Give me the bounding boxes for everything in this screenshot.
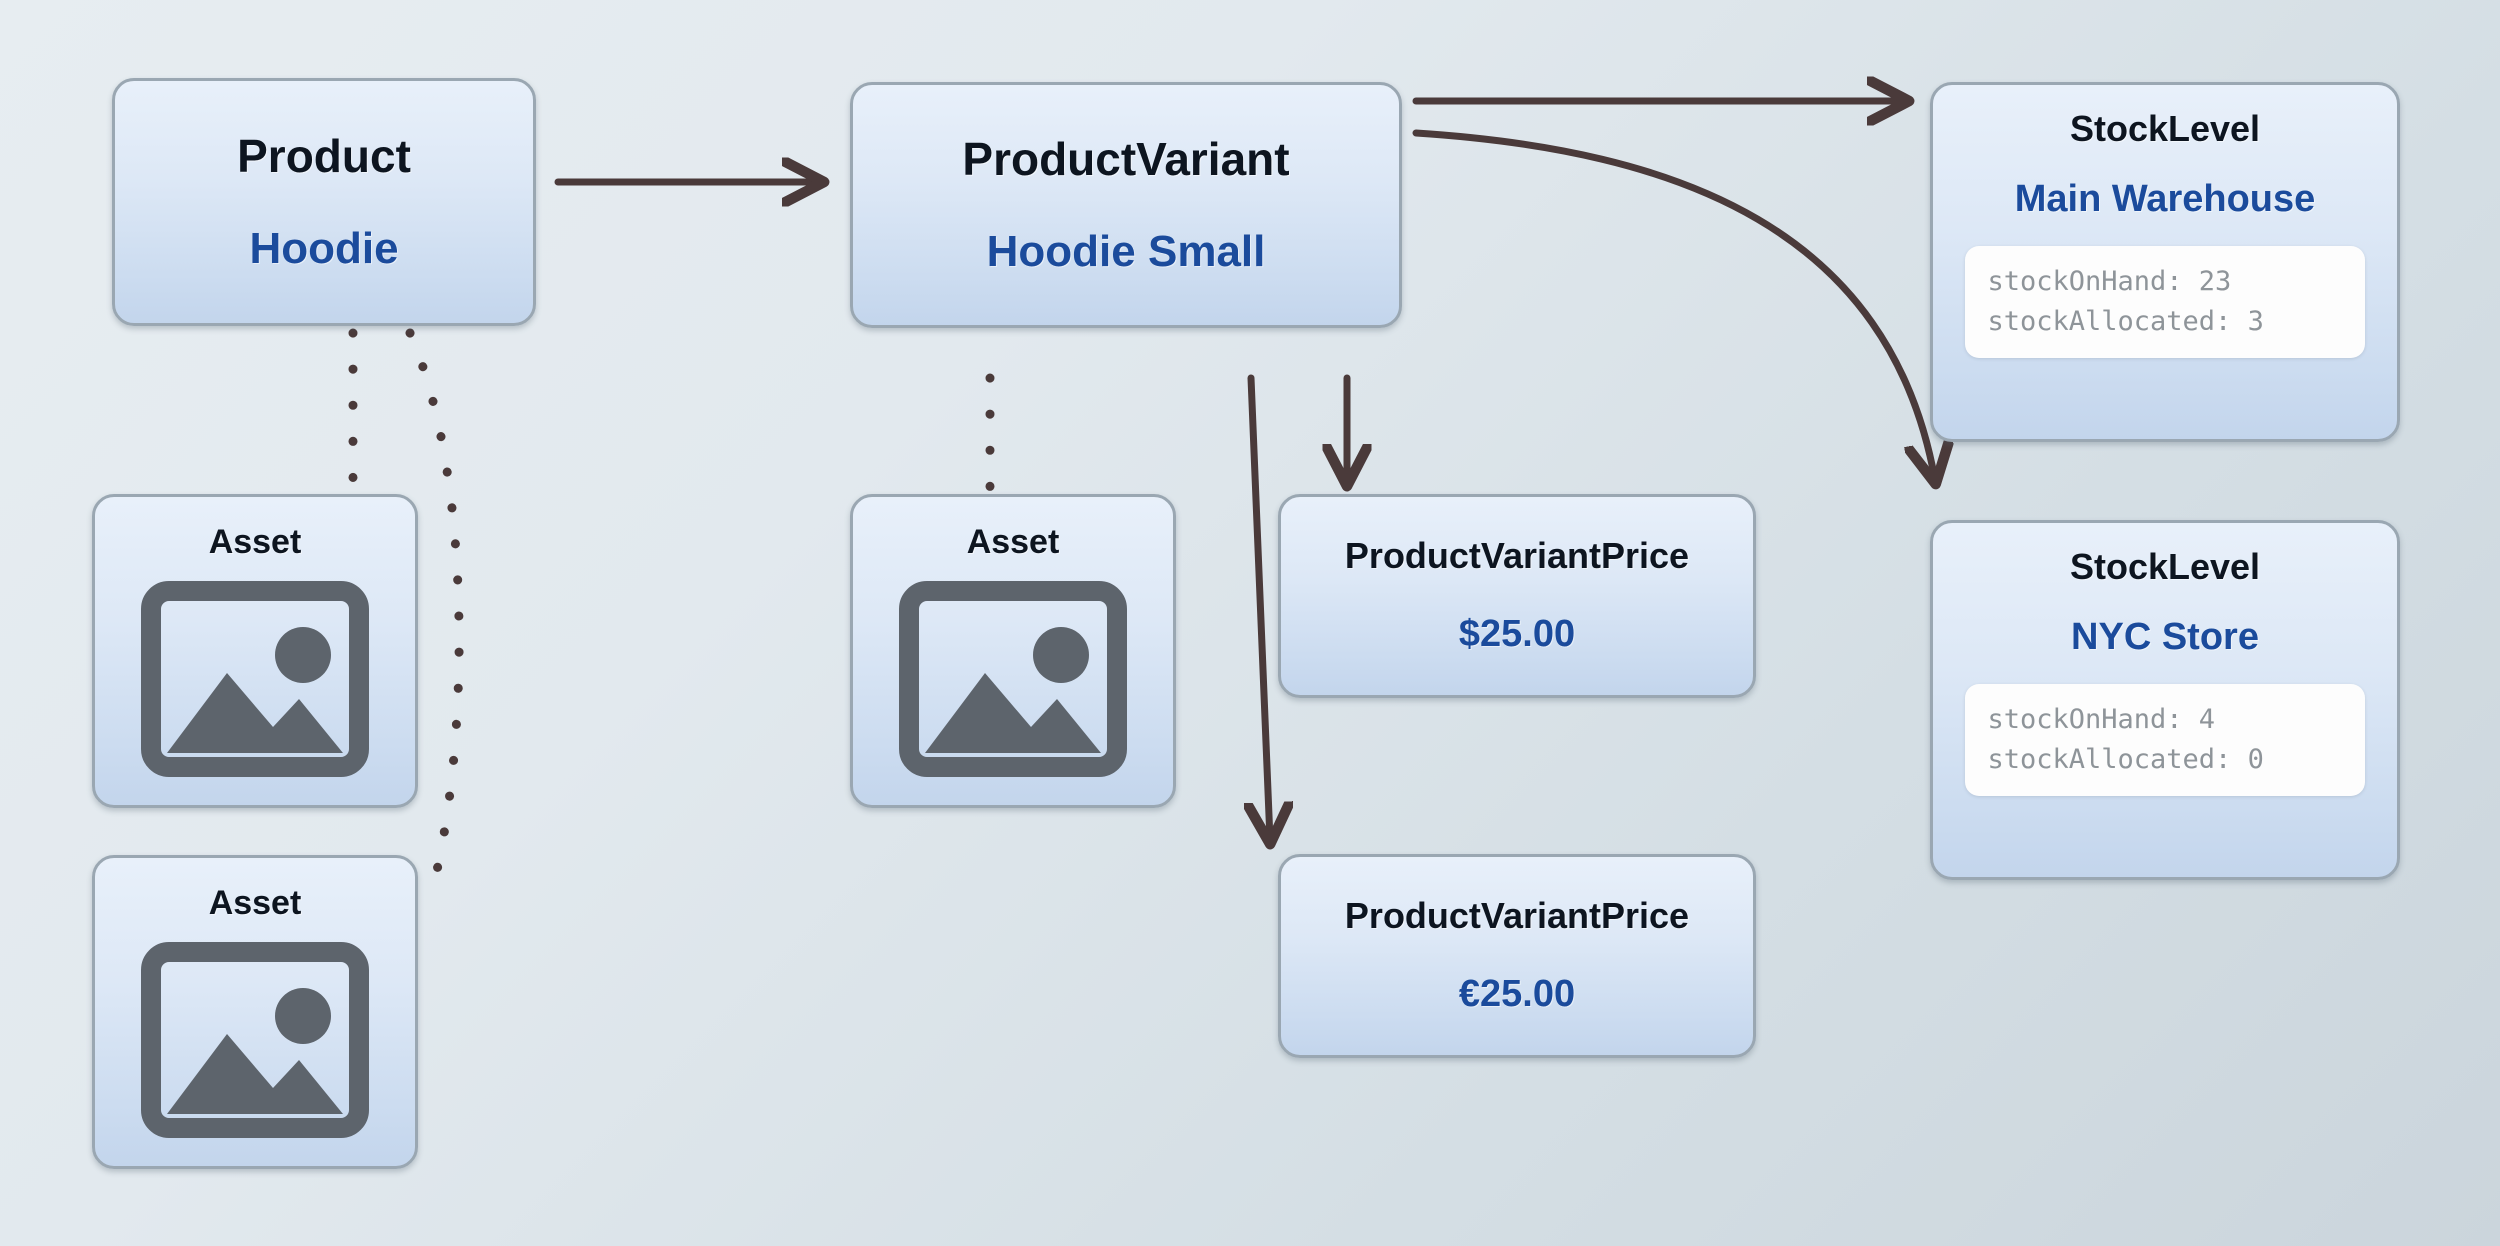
- node-price-eur-title: ProductVariantPrice: [1345, 896, 1689, 936]
- node-stock-main-subtitle: Main Warehouse: [2015, 179, 2316, 221]
- node-asset-variant-1[interactable]: Asset: [850, 494, 1176, 808]
- stock-field-on-hand: stockOnHand: 23: [1987, 262, 2342, 302]
- node-stock-main-title: StockLevel: [2070, 109, 2260, 149]
- node-product-variant-title: ProductVariant: [962, 134, 1289, 185]
- node-asset-product-1-title: Asset: [209, 524, 302, 561]
- node-product-variant-subtitle: Hoodie Small: [987, 228, 1266, 276]
- node-price-eur-value: €25.00: [1459, 974, 1575, 1016]
- node-product-subtitle: Hoodie: [249, 225, 398, 273]
- stock-field-allocated: stockAllocated: 0: [1987, 740, 2342, 780]
- image-placeholder-icon: [141, 942, 369, 1143]
- node-product[interactable]: Product Hoodie: [112, 78, 536, 326]
- node-price-usd-title: ProductVariantPrice: [1345, 536, 1689, 576]
- node-stock-nyc-fields: stockOnHand: 4 stockAllocated: 0: [1965, 684, 2364, 796]
- edge-variant-to-stock-nyc: [1416, 133, 1935, 480]
- node-price-usd[interactable]: ProductVariantPrice $25.00: [1278, 494, 1756, 698]
- node-asset-product-2-title: Asset: [209, 885, 302, 922]
- image-placeholder-icon: [899, 581, 1127, 782]
- node-stock-main[interactable]: StockLevel Main Warehouse stockOnHand: 2…: [1930, 82, 2400, 442]
- node-stock-nyc-title: StockLevel: [2070, 547, 2260, 587]
- diagram-canvas: Product Hoodie ProductVariant Hoodie Sma…: [0, 0, 2500, 1246]
- edge-variant-to-price-eur: [1251, 378, 1270, 840]
- node-product-variant[interactable]: ProductVariant Hoodie Small: [850, 82, 1402, 328]
- node-stock-main-fields: stockOnHand: 23 stockAllocated: 3: [1965, 246, 2364, 358]
- node-price-usd-value: $25.00: [1459, 614, 1575, 656]
- node-stock-nyc-subtitle: NYC Store: [2071, 617, 2259, 659]
- stock-field-allocated: stockAllocated: 3: [1987, 302, 2342, 342]
- node-stock-nyc[interactable]: StockLevel NYC Store stockOnHand: 4 stoc…: [1930, 520, 2400, 880]
- node-asset-variant-1-title: Asset: [967, 524, 1060, 561]
- node-asset-product-2[interactable]: Asset: [92, 855, 418, 1169]
- node-price-eur[interactable]: ProductVariantPrice €25.00: [1278, 854, 1756, 1058]
- stock-field-on-hand: stockOnHand: 4: [1987, 700, 2342, 740]
- node-product-title: Product: [237, 131, 411, 182]
- image-placeholder-icon: [141, 581, 369, 782]
- node-asset-product-1[interactable]: Asset: [92, 494, 418, 808]
